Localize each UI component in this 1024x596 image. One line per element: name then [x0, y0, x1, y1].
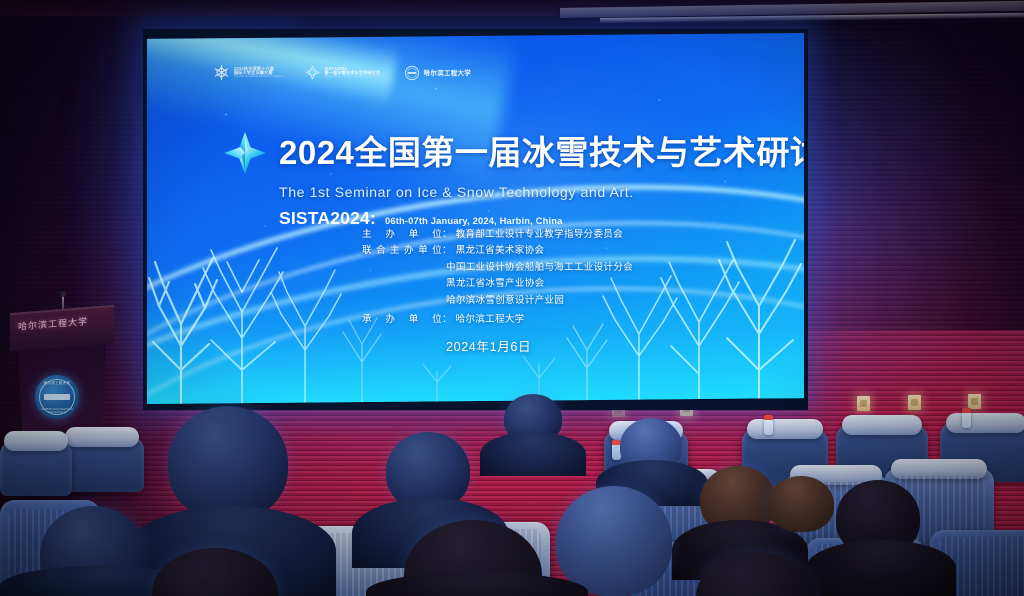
logo-line-en: The 16th International Student Ice Sculp…: [234, 76, 283, 78]
podium-emblem: 哈尔滨工程大学 HARBIN ENGINEERING UNIVERSITY: [35, 375, 79, 419]
led-screen: 2024哈尔滨第十六届 国际大学生冰雕大赛 The 16th Internati…: [147, 33, 804, 404]
screen-event-date: 2024年1月6日: [446, 336, 722, 355]
organizer-value: 教育部工业设计专业教学指导分委员会: [456, 229, 623, 242]
host-value: 哈尔滨工程大学: [456, 314, 525, 327]
screen-title-en: The 1st Seminar on Ice & Snow Technology…: [279, 185, 761, 201]
organizer-value-extra: 黑龙江省冰雪产业协会: [446, 278, 722, 291]
logo-ice-sculpture-contest: 2024哈尔滨第十六届 国际大学生冰雕大赛 The 16th Internati…: [213, 64, 283, 81]
screen-acronym-date: 06th-07th January, 2024, Harbin, China: [385, 215, 562, 226]
screen-title-cn: 2024全国第一届冰雪技术与艺术研讨会: [279, 136, 804, 169]
seat-headrest: [842, 415, 923, 435]
logo-line-cn2: 国际大学生冰雕大赛: [234, 71, 283, 75]
organizer-colon: ：: [442, 245, 452, 258]
host-row: 承办单位 ： 哈尔滨工程大学: [362, 314, 722, 327]
seat: [60, 436, 144, 492]
organizer-value-extra: 哈尔滨冰雪创意设计产业园: [446, 295, 722, 308]
audience-head: [556, 486, 672, 596]
water-bottle: [962, 408, 971, 428]
audience-shoulders: [480, 432, 586, 476]
organizer-row-main: 主办单位 ： 教育部工业设计专业教学指导分委员会: [362, 229, 722, 242]
organizer-key: 主办单位: [362, 229, 442, 242]
seal-icon: [404, 65, 420, 81]
wall-light-fixture: [857, 396, 870, 411]
seat-headrest: [747, 419, 823, 439]
seat-headrest: [946, 413, 1024, 433]
screen-acronym-row: SISTA2024: 06th-07th January, 2024, Harb…: [279, 208, 761, 229]
logo-line-cn2: 第一届冰雪技术与艺术研讨会: [324, 71, 381, 75]
organizer-colon: ：: [442, 229, 452, 242]
seat-headrest: [4, 431, 67, 451]
logo-harbin-engineering-university: 哈尔滨工程大学: [404, 65, 472, 81]
organizer-value: 黑龙江省美术家协会: [456, 245, 545, 258]
logo-university-name: 哈尔滨工程大学: [424, 68, 472, 77]
snowflake-icon: [213, 64, 230, 81]
logo-sista2024: SISTA2024 第一届冰雪技术与艺术研讨会 The 1st Seminar …: [305, 65, 381, 80]
screen-logo-bar: 2024哈尔滨第十六届 国际大学生冰雕大赛 The 16th Internati…: [213, 64, 471, 81]
audience-head: [168, 406, 288, 520]
seat-headrest: [65, 427, 139, 447]
wall-light-fixture: [908, 395, 921, 410]
podium-emblem-top-text: 哈尔滨工程大学: [35, 380, 79, 385]
diamond-icon: [305, 65, 320, 80]
auditorium-photo: 2024哈尔滨第十六届 国际大学生冰雕大赛 The 16th Internati…: [0, 0, 1024, 596]
host-key: 承办单位: [362, 314, 442, 327]
organizer-key: 联合主办单位: [362, 245, 442, 258]
organizer-row-co: 联合主办单位 ： 黑龙江省美术家协会: [362, 245, 722, 258]
organizer-value-extra: 中国工业设计协会船舶与海工工业设计分会: [446, 262, 722, 275]
screen-acronym-label: SISTA2024:: [279, 208, 376, 229]
screen-organizer-block: 主办单位 ： 教育部工业设计专业教学指导分委员会 联合主办单位 ： 黑龙江省美术…: [362, 229, 722, 355]
podium-emblem-bottom-text: HARBIN ENGINEERING UNIVERSITY: [35, 408, 79, 414]
logo-line-en: The 1st Seminar on Ice & Snow Technology…: [324, 76, 381, 78]
host-colon: ：: [442, 314, 452, 327]
water-bottle: [764, 415, 773, 435]
crystal-star-icon: [221, 129, 269, 177]
wall-light-fixture: [968, 394, 981, 409]
podium-emblem-bar: [44, 394, 70, 400]
audience-shoulders: [806, 540, 956, 596]
seat: [0, 440, 72, 496]
screen-title-block: 2024全国第一届冰雪技术与艺术研讨会 The 1st Seminar on I…: [221, 127, 761, 229]
audience-head: [768, 476, 834, 532]
